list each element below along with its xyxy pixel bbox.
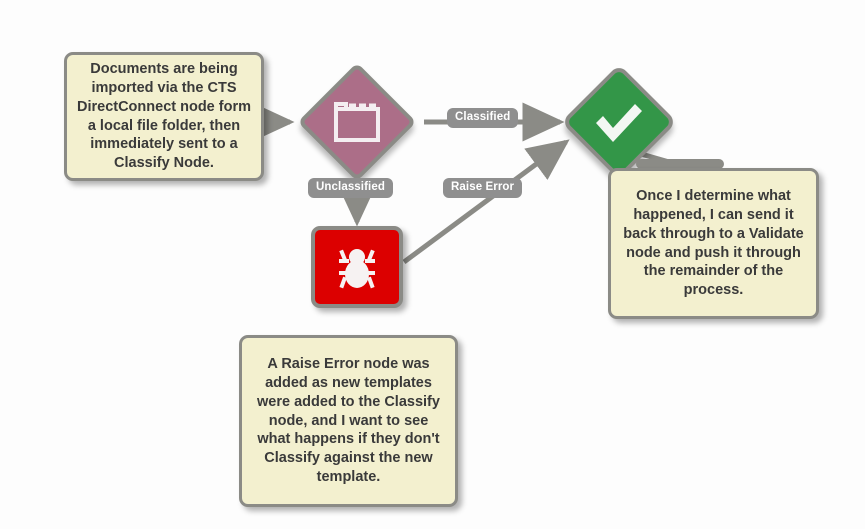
callout-raise-error-text: A Raise Error node was added as new temp… bbox=[251, 355, 446, 487]
edge-label-classified[interactable]: Classified bbox=[447, 108, 518, 128]
classify-node[interactable] bbox=[283, 66, 431, 178]
window-icon bbox=[333, 101, 381, 143]
edge-label-unclassified[interactable]: Unclassified bbox=[308, 178, 393, 198]
callout-import[interactable]: Documents are being imported via the CTS… bbox=[64, 52, 264, 181]
callout-raise-error[interactable]: A Raise Error node was added as new temp… bbox=[239, 335, 458, 507]
checkmark-icon bbox=[592, 99, 646, 145]
bug-icon bbox=[331, 241, 383, 293]
raise-error-node[interactable] bbox=[311, 226, 403, 308]
callout-validate-text: Once I determine what happened, I can se… bbox=[620, 187, 807, 300]
diagram-canvas: Classified Unclassified Raise Error Docu… bbox=[0, 0, 865, 529]
callout-validate[interactable]: Once I determine what happened, I can se… bbox=[608, 168, 819, 319]
edge-label-raise-error[interactable]: Raise Error bbox=[443, 178, 522, 198]
callout-import-text: Documents are being imported via the CTS… bbox=[76, 60, 252, 173]
